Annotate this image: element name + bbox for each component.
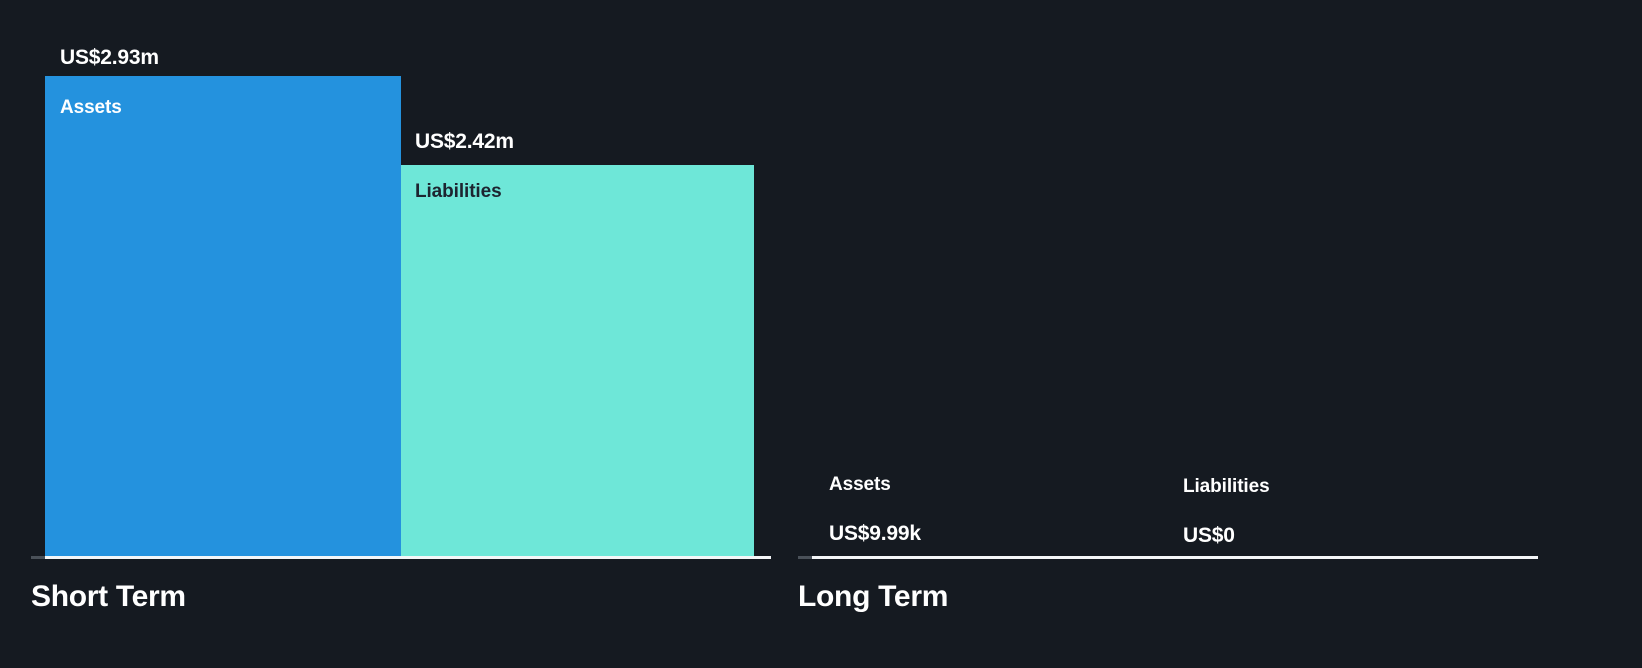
- plot-area: US$2.93m Assets US$2.42m Liabilities Ass…: [0, 0, 1642, 558]
- bar-label-long-term-liabilities: Liabilities: [1183, 476, 1270, 498]
- bar-short-term-liabilities[interactable]: [401, 165, 754, 558]
- axis-line-short-term: [45, 556, 771, 559]
- bar-value-short-term-liabilities: US$2.42m: [415, 130, 514, 154]
- bar-label-long-term-assets: Assets: [829, 474, 891, 496]
- group-caption-short-term: Short Term: [31, 580, 186, 614]
- group-caption-long-term: Long Term: [798, 580, 948, 614]
- bar-value-long-term-assets: US$9.99k: [829, 522, 921, 546]
- bar-value-long-term-liabilities: US$0: [1183, 524, 1235, 548]
- financial-position-chart: US$2.93m Assets US$2.42m Liabilities Ass…: [0, 0, 1642, 668]
- bar-value-short-term-assets: US$2.93m: [60, 46, 159, 70]
- bar-short-term-assets[interactable]: [45, 76, 401, 558]
- axis-line-long-term: [812, 556, 1538, 559]
- bar-label-short-term-assets: Assets: [60, 97, 122, 119]
- bar-label-short-term-liabilities: Liabilities: [415, 181, 502, 203]
